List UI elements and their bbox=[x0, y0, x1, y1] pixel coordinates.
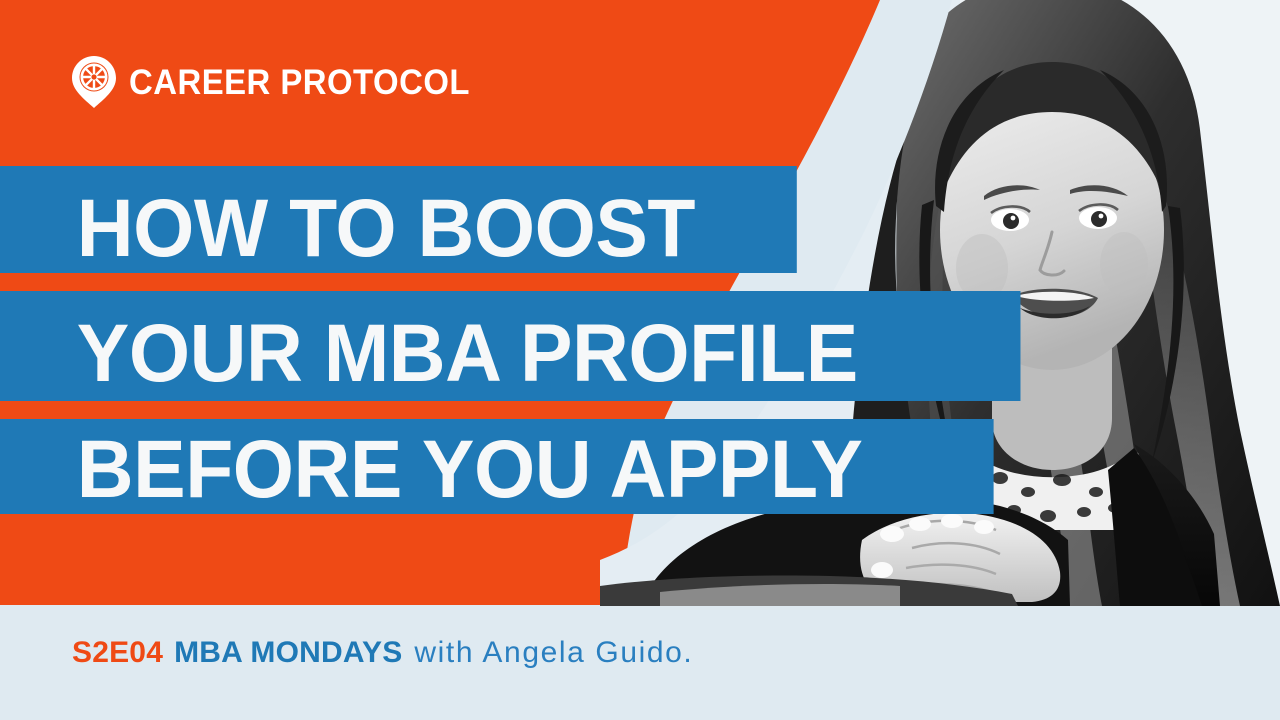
brand-logo[interactable]: CAREER PROTOCOL bbox=[72, 56, 492, 108]
title-line-3: BEFORE YOU APPLY bbox=[0, 419, 994, 514]
episode-code: S2E04 bbox=[72, 636, 163, 670]
title-stack: HOW TO BOOST YOUR MBA PROFILE BEFORE YOU… bbox=[0, 166, 1063, 514]
footer-caption: S2E04 MBA MONDAYS with Angela Guido. bbox=[72, 636, 693, 670]
video-thumbnail: CAREER PROTOCOL HOW TO BOOST YOUR MBA PR… bbox=[0, 0, 1280, 720]
title-line-2: YOUR MBA PROFILE bbox=[0, 291, 1020, 401]
show-name: MBA MONDAYS bbox=[174, 636, 402, 670]
title-line-1: HOW TO BOOST bbox=[0, 166, 797, 273]
map-pin-compass-icon bbox=[72, 56, 116, 108]
host-credit: with Angela Guido. bbox=[414, 636, 693, 670]
brand-logo-text: CAREER PROTOCOL bbox=[129, 65, 470, 100]
